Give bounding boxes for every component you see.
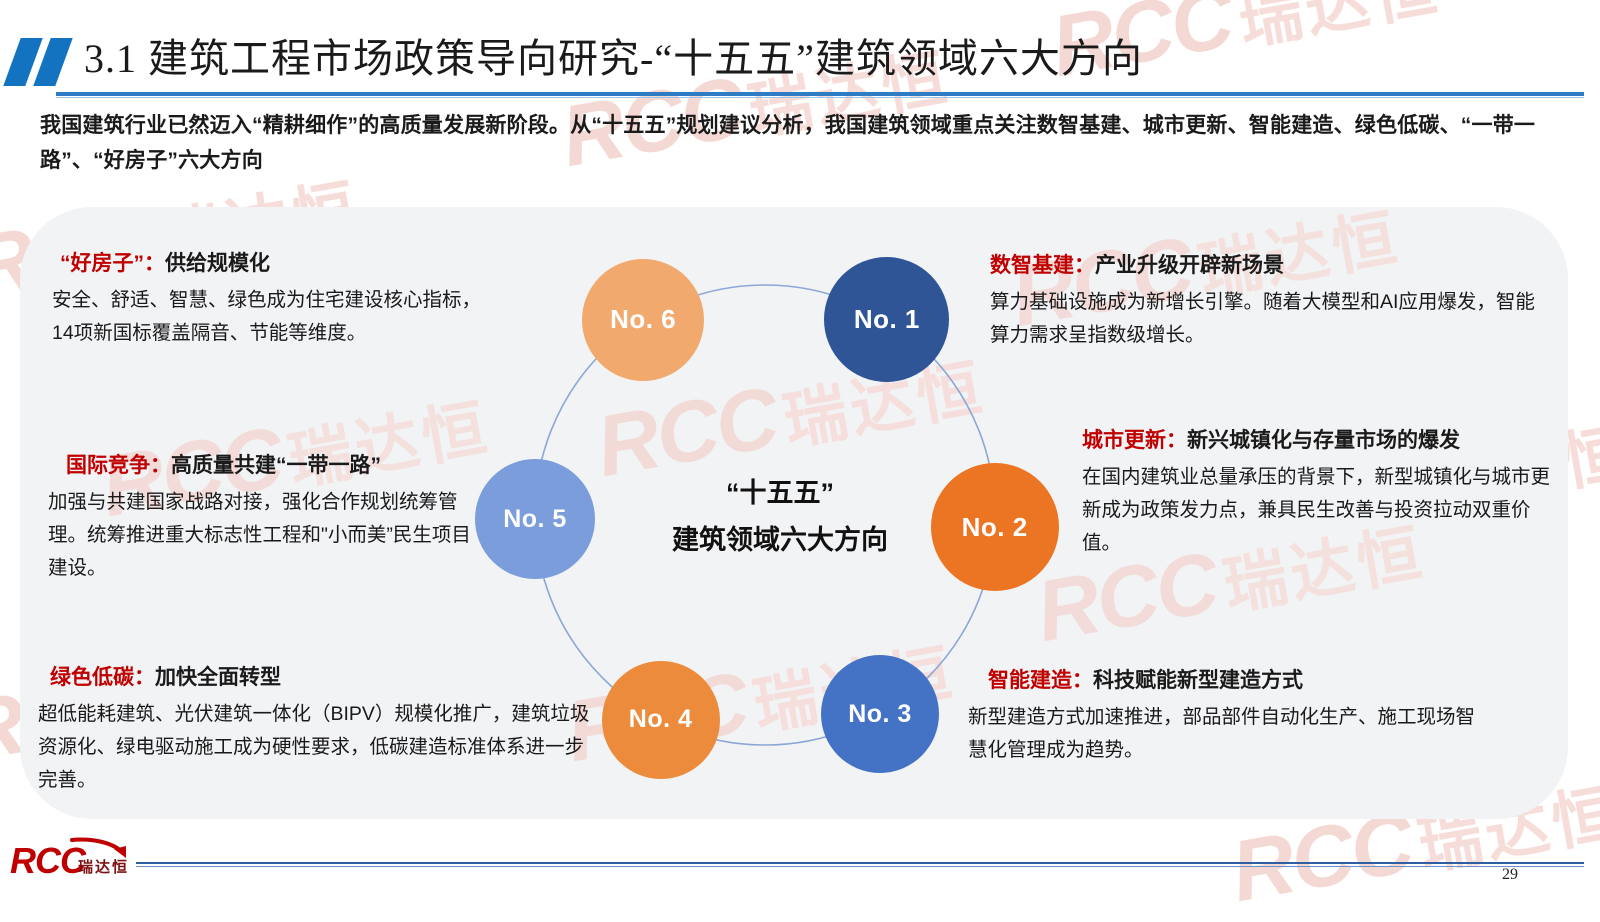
callout-keyword: 绿色低碳 [50, 666, 134, 689]
page-title: 3.1 建筑工程市场政策导向研究-“十五五”建筑领域六大方向 [84, 26, 1143, 84]
header-divider [56, 92, 1584, 96]
callout-title-rest: 高质量共建“一带一路” [171, 454, 381, 477]
page-number: 29 [1480, 866, 1540, 884]
callout-separator: ： [144, 252, 165, 275]
callout-body: 安全、舒适、智慧、绿色成为住宅建设核心指标，14项新国标覆盖隔音、节能等维度。 [52, 284, 482, 350]
six-directions-diagram: No. 1 No. 2 No. 3 No. 4 No. 5 No. 6 “十五五… [470, 230, 1090, 820]
callout-keyword: “好房子” [60, 252, 144, 275]
callout-title-rest: 科技赋能新型建造方式 [1093, 669, 1303, 692]
footer-divider-thin [136, 866, 1584, 867]
diagram-node-4[interactable]: No. 4 [602, 661, 720, 779]
diagram-node-5[interactable]: No. 5 [475, 459, 595, 579]
callout-body: 在国内建筑业总量承压的背景下，新型城镇化与城市更新成为政策发力点，兼具民生改善与… [1082, 461, 1552, 560]
diagram-node-label: No. 2 [962, 512, 1028, 543]
callout-separator: ： [134, 666, 155, 689]
diagram-node-label: No. 6 [610, 304, 676, 335]
diagram-center-label: “十五五” 建筑领域六大方向 [620, 470, 940, 564]
title-accent-marks [10, 38, 80, 86]
slide: RCC瑞达恒 RCC瑞达恒 RCC瑞达恒 RCC瑞达恒 RCC瑞达恒 RCC瑞达… [0, 0, 1600, 900]
callout-title-rest: 产业升级开辟新场景 [1095, 254, 1284, 277]
diagram-node-6[interactable]: No. 6 [582, 259, 704, 381]
diagram-node-label: No. 4 [629, 705, 693, 734]
callout-keyword: 城市更新 [1082, 429, 1166, 452]
watermark-cn: 瑞达恒 [1233, 0, 1445, 58]
callout-body: 加强与共建国家战路对接，强化合作规划统筹管理。统筹推进重大标志性工程和"小而美”… [48, 486, 488, 585]
diagram-node-1[interactable]: No. 1 [824, 257, 949, 382]
diagram-node-label: No. 3 [848, 700, 912, 729]
diagram-node-3[interactable]: No. 3 [821, 655, 939, 773]
lead-paragraph: 我国建筑行业已然迈入“精耕细作”的高质量发展新阶段。从“十五五”规划建议分析，我… [40, 108, 1570, 178]
callout-title: 城市更新：新兴城镇化与存量市场的爆发 [1082, 425, 1552, 456]
diagram-center-line2: 建筑领域六大方向 [620, 517, 940, 564]
footer-divider [136, 862, 1584, 864]
callout-guojijingzheng: 国际竞争：高质量共建“一带一路” 加强与共建国家战路对接，强化合作规划统筹管理。… [48, 450, 488, 585]
diagram-node-label: No. 5 [503, 505, 567, 534]
callout-separator: ： [150, 454, 171, 477]
callout-keyword: 国际竞争 [66, 454, 150, 477]
callout-chengshigengxin: 城市更新：新兴城镇化与存量市场的爆发 在国内建筑业总量承压的背景下，新型城镇化与… [1082, 425, 1552, 560]
logo-cn-text: 瑞达恒 [78, 856, 129, 877]
diagram-node-2[interactable]: No. 2 [931, 463, 1059, 591]
rcc-logo: RCC 瑞达恒 [8, 838, 138, 886]
callout-title: 国际竞争：高质量共建“一带一路” [48, 450, 488, 481]
callout-title: “好房子”：供给规模化 [52, 248, 482, 279]
callout-title-rest: 供给规模化 [165, 252, 270, 275]
callout-title-rest: 加快全面转型 [155, 666, 281, 689]
diagram-node-label: No. 1 [854, 304, 920, 335]
callout-haofangzi: “好房子”：供给规模化 安全、舒适、智慧、绿色成为住宅建设核心指标，14项新国标… [52, 248, 482, 350]
callout-title-rest: 新兴城镇化与存量市场的爆发 [1187, 429, 1460, 452]
callout-separator: ： [1166, 429, 1187, 452]
header-divider-thin [56, 97, 1584, 98]
diagram-center-line1: “十五五” [620, 470, 940, 517]
